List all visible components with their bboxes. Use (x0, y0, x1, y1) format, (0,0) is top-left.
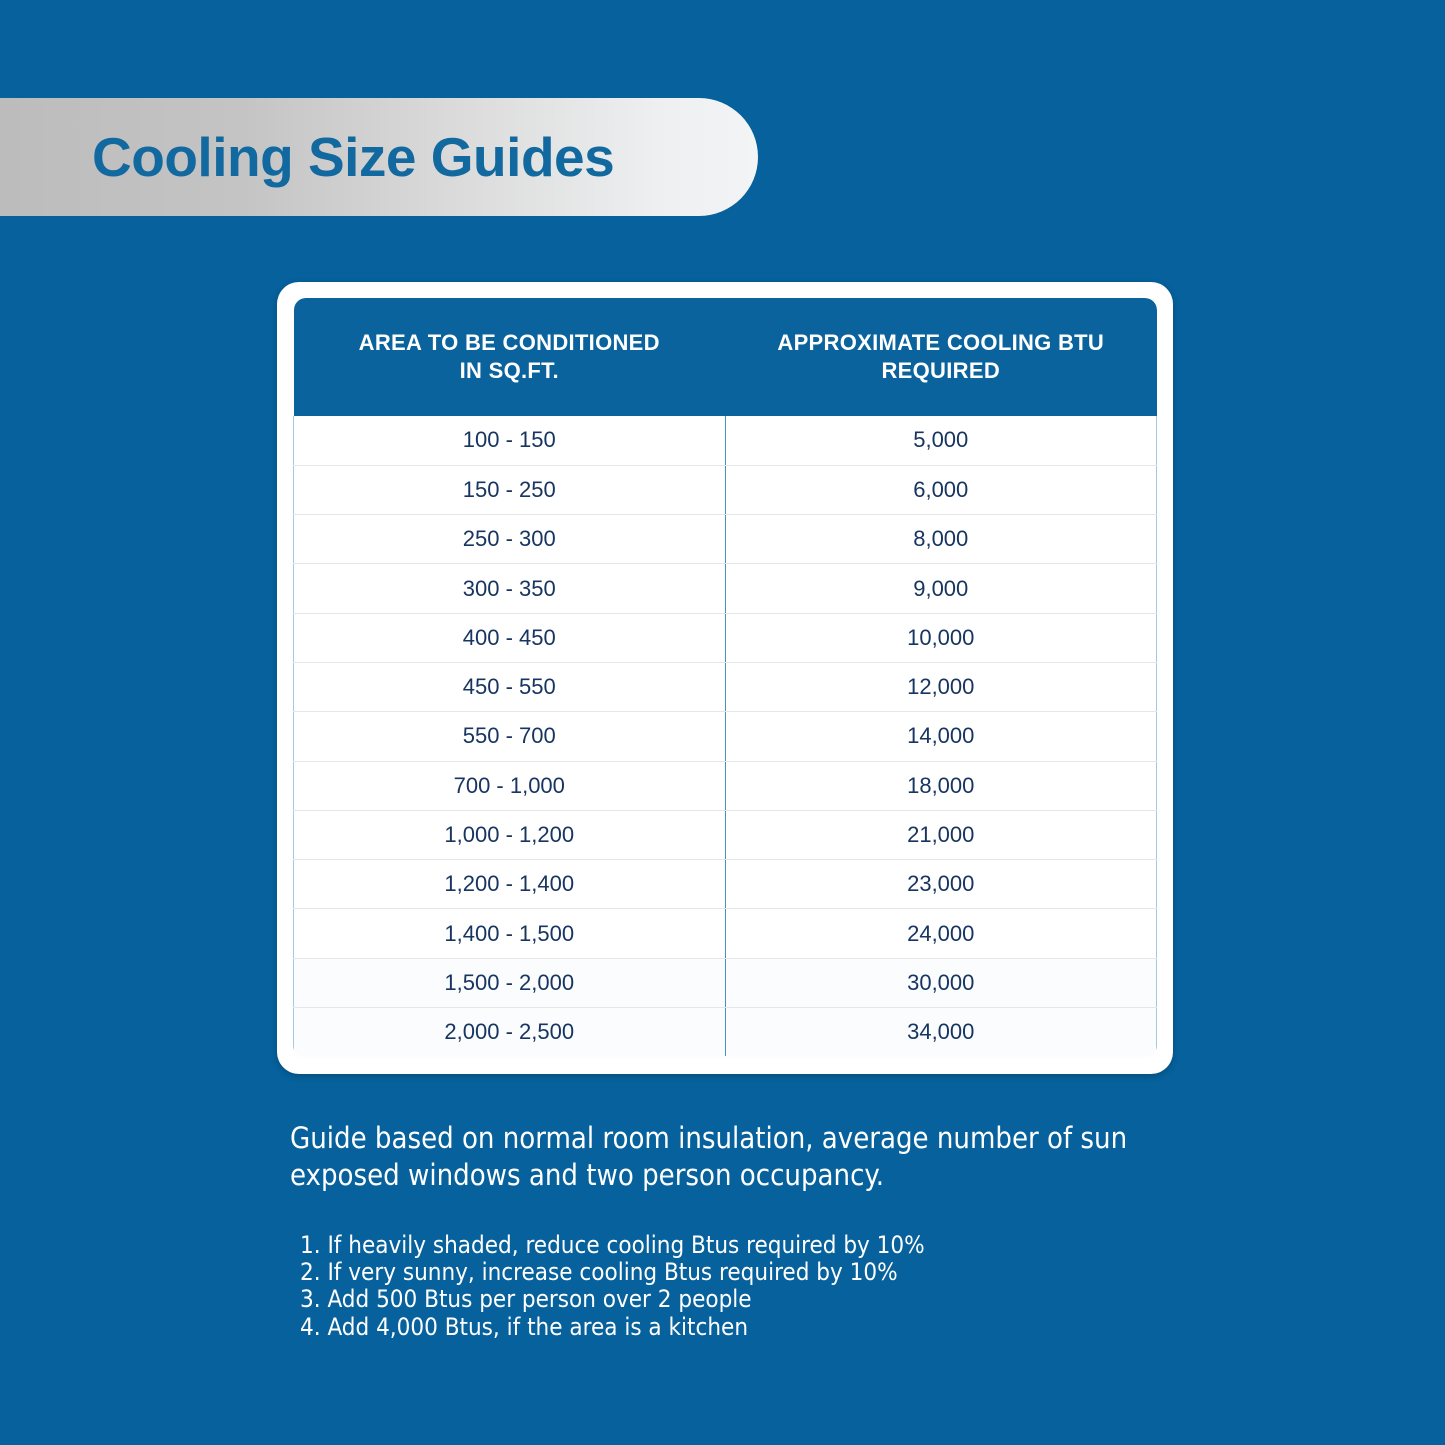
cell-area: 1,400 - 1,500 (294, 909, 726, 958)
notes-section: Guide based on normal room insulation, a… (290, 1120, 1190, 1341)
table-row: 1,500 - 2,000 30,000 (294, 958, 1157, 1007)
cell-area: 100 - 150 (294, 416, 726, 465)
cell-area: 150 - 250 (294, 465, 726, 514)
cell-btu: 18,000 (725, 761, 1157, 810)
cell-area: 250 - 300 (294, 515, 726, 564)
cell-btu: 12,000 (725, 662, 1157, 711)
cell-area: 1,200 - 1,400 (294, 860, 726, 909)
table-row: 150 - 250 6,000 (294, 465, 1157, 514)
cell-btu: 14,000 (725, 712, 1157, 761)
cell-btu: 34,000 (725, 1008, 1157, 1057)
table-row: 550 - 700 14,000 (294, 712, 1157, 761)
cell-btu: 24,000 (725, 909, 1157, 958)
cell-btu: 30,000 (725, 958, 1157, 1007)
table-row: 1,400 - 1,500 24,000 (294, 909, 1157, 958)
cell-area: 2,000 - 2,500 (294, 1008, 726, 1057)
cell-btu: 5,000 (725, 416, 1157, 465)
column-header-btu-label: APPROXIMATE COOLING BTUREQUIRED (777, 330, 1104, 383)
note-item: 1. If heavily shaded, reduce cooling Btu… (290, 1232, 1190, 1259)
column-header-area-label: AREA TO BE CONDITIONEDIN SQ.FT. (359, 330, 660, 383)
cell-btu: 21,000 (725, 810, 1157, 859)
table-body: 100 - 150 5,000 150 - 250 6,000 250 - 30… (294, 416, 1157, 1057)
note-item: 4. Add 4,000 Btus, if the area is a kitc… (290, 1314, 1190, 1341)
table-row: 700 - 1,000 18,000 (294, 761, 1157, 810)
cell-btu: 23,000 (725, 860, 1157, 909)
cell-area: 1,000 - 1,200 (294, 810, 726, 859)
note-item: 3. Add 500 Btus per person over 2 people (290, 1286, 1190, 1313)
cell-area: 550 - 700 (294, 712, 726, 761)
title-banner: Cooling Size Guides (0, 98, 758, 216)
page-title: Cooling Size Guides (92, 130, 614, 185)
guide-note: Guide based on normal room insulation, a… (290, 1120, 1130, 1194)
table-row: 300 - 350 9,000 (294, 564, 1157, 613)
table-header: AREA TO BE CONDITIONEDIN SQ.FT. APPROXIM… (294, 298, 1157, 416)
column-header-btu: APPROXIMATE COOLING BTUREQUIRED (725, 298, 1157, 416)
cell-area: 700 - 1,000 (294, 761, 726, 810)
table-header-row: AREA TO BE CONDITIONEDIN SQ.FT. APPROXIM… (294, 298, 1157, 416)
cooling-size-table-card: AREA TO BE CONDITIONEDIN SQ.FT. APPROXIM… (277, 282, 1173, 1074)
table-row: 1,000 - 1,200 21,000 (294, 810, 1157, 859)
table-row: 250 - 300 8,000 (294, 515, 1157, 564)
cell-btu: 8,000 (725, 515, 1157, 564)
cell-btu: 9,000 (725, 564, 1157, 613)
table-row: 1,200 - 1,400 23,000 (294, 860, 1157, 909)
cooling-size-table: AREA TO BE CONDITIONEDIN SQ.FT. APPROXIM… (293, 298, 1157, 1058)
note-item: 2. If very sunny, increase cooling Btus … (290, 1259, 1190, 1286)
cell-area: 400 - 450 (294, 613, 726, 662)
cell-btu: 6,000 (725, 465, 1157, 514)
table-row: 100 - 150 5,000 (294, 416, 1157, 465)
table-row: 450 - 550 12,000 (294, 662, 1157, 711)
table-row: 2,000 - 2,500 34,000 (294, 1008, 1157, 1057)
cell-btu: 10,000 (725, 613, 1157, 662)
cell-area: 450 - 550 (294, 662, 726, 711)
column-header-area: AREA TO BE CONDITIONEDIN SQ.FT. (294, 298, 726, 416)
cell-area: 1,500 - 2,000 (294, 958, 726, 1007)
table-row: 400 - 450 10,000 (294, 613, 1157, 662)
cell-area: 300 - 350 (294, 564, 726, 613)
notes-list: 1. If heavily shaded, reduce cooling Btu… (290, 1232, 1190, 1340)
